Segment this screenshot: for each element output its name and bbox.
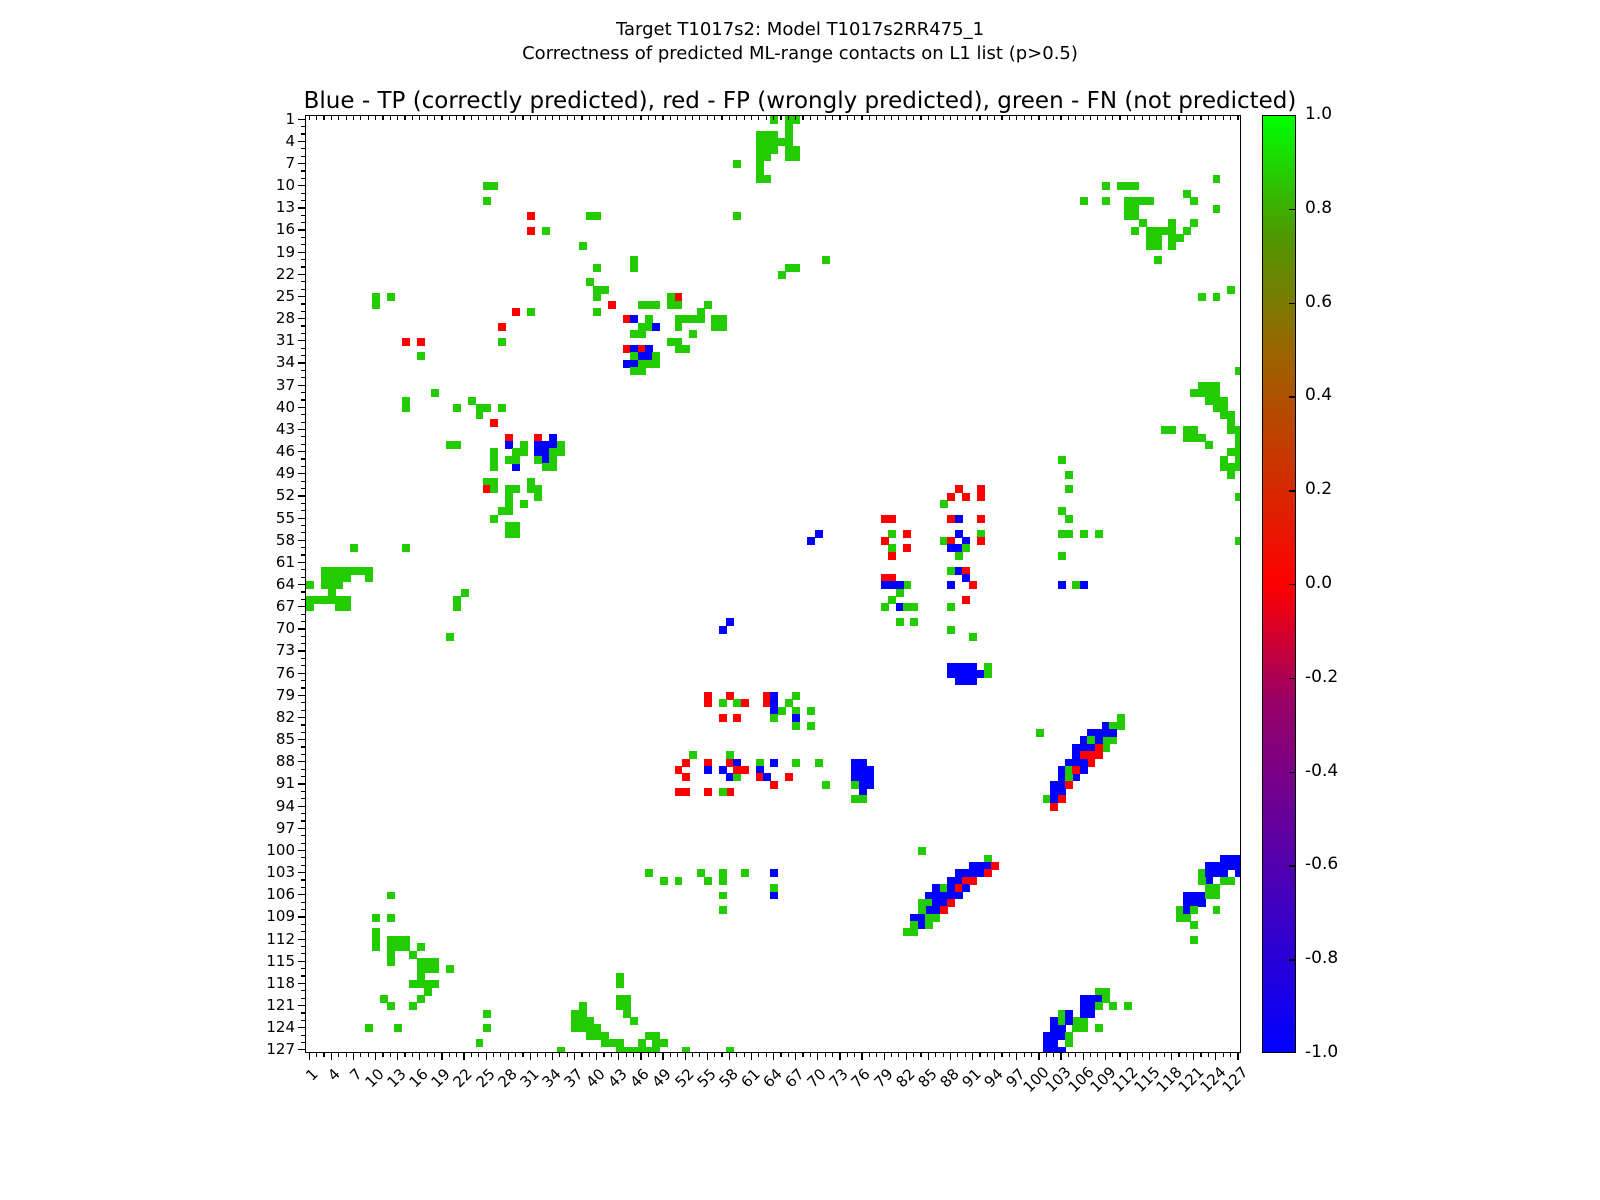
contact-cell-mirror	[719, 877, 727, 885]
contact-cell	[1087, 759, 1095, 767]
contact-cell	[402, 544, 410, 552]
y-major-tick	[298, 695, 305, 696]
contact-cell	[1058, 581, 1066, 589]
y-minor-tick	[301, 835, 305, 836]
x-top-tick	[434, 115, 435, 120]
x-top-tick	[559, 115, 560, 120]
contact-cell	[365, 574, 373, 582]
x-top-tick	[677, 115, 678, 120]
contact-cell	[822, 781, 830, 789]
y-tick-label: 112	[247, 930, 295, 948]
colorbar-tick	[1289, 584, 1296, 585]
x-top-tick	[1009, 115, 1010, 120]
y-minor-tick	[301, 769, 305, 770]
x-top-tick	[618, 115, 619, 120]
x-top-tick	[847, 115, 848, 120]
colorbar-tick-label: 0.2	[1305, 479, 1332, 499]
x-minor-tick	[1024, 1053, 1025, 1057]
contact-cell-mirror	[770, 869, 778, 877]
contact-cell	[417, 995, 425, 1003]
x-minor-tick	[1186, 1053, 1187, 1057]
contact-cell	[453, 441, 461, 449]
x-top-tick	[1178, 115, 1179, 120]
contact-cell-mirror	[697, 315, 705, 323]
y-minor-tick	[301, 680, 305, 681]
contact-cell-mirror	[1168, 242, 1176, 250]
x-top-tick	[692, 115, 693, 120]
contact-cell	[645, 869, 653, 877]
y-minor-tick	[301, 946, 305, 947]
contact-cell-mirror	[903, 603, 911, 611]
y-major-tick	[298, 473, 305, 474]
contact-cell	[1065, 781, 1073, 789]
x-minor-tick	[449, 1053, 450, 1057]
x-top-tick	[1060, 115, 1061, 120]
contact-cell-mirror	[763, 153, 771, 161]
x-major-tick	[994, 1053, 995, 1060]
contact-cell-mirror	[409, 980, 417, 988]
x-minor-tick	[1134, 1053, 1135, 1057]
y-minor-tick	[301, 444, 305, 445]
contact-cell	[719, 906, 727, 914]
x-major-tick	[530, 1053, 531, 1060]
contact-cell	[785, 773, 793, 781]
contact-cell	[822, 256, 830, 264]
y-major-tick	[298, 717, 305, 718]
contact-cell-mirror	[630, 1017, 638, 1025]
x-top-tick	[1142, 115, 1143, 120]
x-major-tick	[508, 1053, 509, 1060]
contact-cell-mirror	[940, 906, 948, 914]
contact-cell-mirror	[1109, 729, 1117, 737]
contact-cell-mirror	[741, 766, 749, 774]
contact-cell	[652, 1047, 660, 1053]
y-major-tick	[298, 274, 305, 275]
y-minor-tick	[301, 156, 305, 157]
contact-cell-mirror	[947, 899, 955, 907]
y-major-tick	[298, 362, 305, 363]
y-tick-label: 109	[247, 907, 295, 925]
y-minor-tick	[301, 1020, 305, 1021]
y-tick-label: 103	[247, 863, 295, 881]
contact-cell-mirror	[490, 419, 498, 427]
x-minor-tick	[316, 1053, 317, 1057]
contact-cell	[1095, 751, 1103, 759]
x-major-tick	[596, 1053, 597, 1060]
x-top-tick	[596, 115, 597, 120]
contact-cell-mirror	[520, 500, 528, 508]
y-major-tick	[298, 451, 305, 452]
y-minor-tick	[301, 215, 305, 216]
y-tick-label: 46	[247, 442, 295, 460]
contact-cell	[910, 603, 918, 611]
contact-cell	[557, 1047, 565, 1053]
x-minor-tick	[633, 1053, 634, 1057]
contact-cell	[1124, 1002, 1132, 1010]
y-minor-tick	[301, 798, 305, 799]
x-minor-tick	[987, 1053, 988, 1057]
y-major-tick	[298, 1027, 305, 1028]
x-minor-tick	[404, 1053, 405, 1057]
colorbar-tick	[1289, 490, 1296, 491]
contact-cell-mirror	[1065, 773, 1073, 781]
y-minor-tick	[301, 355, 305, 356]
x-major-tick	[486, 1053, 487, 1060]
contact-cell-mirror	[1154, 242, 1162, 250]
y-minor-tick	[301, 902, 305, 903]
contact-cell-mirror	[1102, 197, 1110, 205]
x-top-tick	[1024, 115, 1025, 120]
y-tick-label: 34	[247, 353, 295, 371]
contact-cell-mirror	[991, 862, 999, 870]
contact-cell-mirror	[770, 146, 778, 154]
x-major-tick	[574, 1053, 575, 1060]
x-minor-tick	[323, 1053, 324, 1057]
x-top-tick	[626, 115, 627, 120]
y-major-tick	[298, 628, 305, 629]
x-minor-tick	[847, 1053, 848, 1057]
x-top-tick	[699, 115, 700, 120]
x-top-tick	[1097, 115, 1098, 120]
y-minor-tick	[301, 599, 305, 600]
y-tick-label: 79	[247, 686, 295, 704]
contact-cell	[417, 338, 425, 346]
contact-cell-mirror	[675, 323, 683, 331]
contact-cell-mirror	[719, 699, 727, 707]
contact-cell-mirror	[770, 714, 778, 722]
contact-cell-mirror	[593, 293, 601, 301]
contact-cell	[1102, 182, 1110, 190]
x-minor-tick	[876, 1053, 877, 1057]
contact-cell-mirror	[542, 227, 550, 235]
contact-cells-layer	[306, 116, 1240, 1052]
y-minor-tick	[301, 289, 305, 290]
title-line-1: Target T1017s2: Model T1017s2RR475_1	[0, 18, 1600, 42]
y-minor-tick	[301, 687, 305, 688]
contact-cell-mirror	[402, 338, 410, 346]
y-major-tick	[298, 540, 305, 541]
x-top-tick	[397, 115, 398, 120]
colorbar-tick	[1289, 678, 1296, 679]
x-top-tick	[965, 115, 966, 120]
y-minor-tick	[301, 510, 305, 511]
contact-cell	[1065, 1039, 1073, 1047]
contact-cell	[1190, 906, 1198, 914]
x-top-tick	[802, 115, 803, 120]
contact-cell	[675, 877, 683, 885]
contact-cell	[431, 965, 439, 973]
y-minor-tick	[301, 1035, 305, 1036]
x-top-tick	[1164, 115, 1165, 120]
contact-cell-mirror	[770, 884, 778, 892]
x-minor-tick	[802, 1053, 803, 1057]
contact-cell-mirror	[1109, 1002, 1117, 1010]
y-minor-tick	[301, 414, 305, 415]
x-top-tick	[486, 115, 487, 120]
contact-cell	[778, 707, 786, 715]
contact-cell	[903, 530, 911, 538]
x-minor-tick	[1208, 1053, 1209, 1057]
contact-cell	[1072, 773, 1080, 781]
x-major-tick	[1171, 1053, 1172, 1060]
y-tick-label: 7	[247, 154, 295, 172]
x-top-tick	[655, 115, 656, 120]
x-minor-tick	[913, 1053, 914, 1057]
x-minor-tick	[788, 1053, 789, 1057]
x-top-tick	[1156, 115, 1157, 120]
contact-cell	[1205, 441, 1213, 449]
y-minor-tick	[301, 665, 305, 666]
contact-cell-mirror	[1235, 493, 1241, 501]
contact-cell-mirror	[1235, 537, 1241, 545]
x-top-tick	[633, 115, 634, 120]
x-top-tick	[935, 115, 936, 120]
y-minor-tick	[301, 178, 305, 179]
y-major-tick	[298, 407, 305, 408]
x-top-tick	[825, 115, 826, 120]
y-minor-tick	[301, 865, 305, 866]
y-minor-tick	[301, 924, 305, 925]
x-top-tick	[603, 115, 604, 120]
colorbar-tick	[1289, 303, 1296, 304]
y-tick-label: 82	[247, 708, 295, 726]
contact-cell-mirror	[1213, 892, 1221, 900]
x-major-tick	[662, 1053, 663, 1060]
y-tick-label: 88	[247, 752, 295, 770]
x-major-tick	[618, 1053, 619, 1060]
x-minor-tick	[1230, 1053, 1231, 1057]
y-major-tick	[298, 739, 305, 740]
contact-cell	[498, 404, 506, 412]
contact-cell-mirror	[1176, 234, 1184, 242]
contact-cell	[726, 1047, 734, 1053]
x-minor-tick	[567, 1053, 568, 1057]
x-minor-tick	[920, 1053, 921, 1057]
contact-cell-mirror	[461, 589, 469, 597]
contact-cell	[969, 581, 977, 589]
contact-cell-mirror	[881, 537, 889, 545]
contact-cell-mirror	[770, 759, 778, 767]
contact-cell	[859, 795, 867, 803]
contact-cell	[1058, 552, 1066, 560]
x-major-tick	[1149, 1053, 1150, 1060]
x-top-tick	[994, 115, 995, 120]
contact-cell	[955, 515, 963, 523]
x-top-tick	[928, 115, 929, 120]
x-top-tick	[1112, 115, 1113, 120]
x-top-tick	[773, 115, 774, 120]
contact-cell	[682, 788, 690, 796]
contact-map-plot-area[interactable]	[305, 115, 1241, 1053]
contact-cell	[682, 759, 690, 767]
contact-cell	[704, 877, 712, 885]
y-major-tick	[298, 163, 305, 164]
contact-cell-mirror	[704, 301, 712, 309]
x-minor-tick	[346, 1053, 347, 1057]
x-top-tick	[721, 115, 722, 120]
y-tick-label: 22	[247, 265, 295, 283]
y-minor-tick	[301, 348, 305, 349]
contact-cell-mirror	[512, 485, 520, 493]
x-top-tick	[360, 115, 361, 120]
contact-cell-mirror	[1095, 744, 1103, 752]
x-top-tick	[419, 115, 420, 120]
contact-cell	[1227, 471, 1235, 479]
y-tick-label: 58	[247, 531, 295, 549]
y-major-tick	[298, 939, 305, 940]
x-minor-tick	[493, 1053, 494, 1057]
contact-cell	[792, 692, 800, 700]
x-major-tick	[419, 1053, 420, 1060]
y-tick-label: 1	[247, 110, 295, 128]
y-minor-tick	[301, 377, 305, 378]
contact-cell-mirror	[969, 877, 977, 885]
contact-cell-mirror	[792, 116, 800, 124]
x-top-tick	[1186, 115, 1187, 120]
x-top-tick	[471, 115, 472, 120]
x-minor-tick	[626, 1053, 627, 1057]
y-tick-label: 124	[247, 1018, 295, 1036]
x-top-tick	[552, 115, 553, 120]
x-top-tick	[611, 115, 612, 120]
x-minor-tick	[1112, 1053, 1113, 1057]
contact-cell	[387, 293, 395, 301]
y-tick-label: 64	[247, 575, 295, 593]
contact-cell-mirror	[1213, 175, 1221, 183]
x-top-tick	[522, 115, 523, 120]
contact-cell-mirror	[881, 581, 889, 589]
contact-cell-mirror	[1146, 197, 1154, 205]
x-minor-tick	[854, 1053, 855, 1057]
y-tick-label: 121	[247, 996, 295, 1014]
contact-cell-mirror	[704, 788, 712, 796]
contact-cell-mirror	[534, 456, 542, 464]
contact-cell-mirror	[453, 603, 461, 611]
x-top-tick	[861, 115, 862, 120]
contact-cell	[1102, 744, 1110, 752]
y-minor-tick	[301, 975, 305, 976]
contact-cell-mirror	[859, 773, 867, 781]
x-minor-tick	[1200, 1053, 1201, 1057]
contact-cell-mirror	[1087, 1010, 1095, 1018]
contact-cell	[431, 980, 439, 988]
y-tick-label: 10	[247, 176, 295, 194]
contact-cell	[770, 892, 778, 900]
x-top-tick	[884, 115, 885, 120]
x-top-tick	[353, 115, 354, 120]
title-line-2: Correctness of predicted ML-range contac…	[0, 42, 1600, 66]
contact-cell-mirror	[1154, 227, 1162, 235]
contact-cell-mirror	[1095, 1002, 1103, 1010]
x-minor-tick	[478, 1053, 479, 1057]
x-minor-tick	[935, 1053, 936, 1057]
contact-cell-mirror	[792, 722, 800, 730]
colorbar-tick	[1289, 865, 1296, 866]
y-tick-label: 100	[247, 841, 295, 859]
x-top-tick	[1237, 115, 1238, 120]
contact-cell	[453, 404, 461, 412]
colorbar-tick-label: -0.8	[1305, 948, 1338, 968]
y-major-tick	[298, 783, 305, 784]
x-top-tick	[441, 115, 442, 120]
x-minor-tick	[744, 1053, 745, 1057]
contact-cell-mirror	[571, 1024, 579, 1032]
x-major-tick	[906, 1053, 907, 1060]
x-minor-tick	[758, 1053, 759, 1057]
contact-cell-mirror	[785, 123, 793, 131]
contact-cell-mirror	[763, 131, 771, 139]
x-minor-tick	[390, 1053, 391, 1057]
contact-cell	[483, 1010, 491, 1018]
contact-cell-mirror	[512, 456, 520, 464]
y-minor-tick	[301, 857, 305, 858]
x-minor-tick	[943, 1053, 944, 1057]
colorbar-tick-label: 0.6	[1305, 292, 1332, 312]
x-minor-tick	[1075, 1053, 1076, 1057]
y-minor-tick	[301, 843, 305, 844]
x-minor-tick	[766, 1053, 767, 1057]
contact-cell-mirror	[1131, 227, 1139, 235]
y-minor-tick	[301, 591, 305, 592]
x-major-tick	[928, 1053, 929, 1060]
contact-cell	[343, 603, 351, 611]
contact-cell-mirror	[969, 633, 977, 641]
y-minor-tick	[301, 732, 305, 733]
contact-cell-mirror	[557, 448, 565, 456]
x-top-tick	[1200, 115, 1201, 120]
x-minor-tick	[670, 1053, 671, 1057]
contact-cell-mirror	[925, 921, 933, 929]
x-top-tick	[508, 115, 509, 120]
y-tick-label: 4	[247, 132, 295, 150]
contact-cell-mirror	[1036, 729, 1044, 737]
x-major-tick	[463, 1053, 464, 1060]
contact-cell	[1190, 921, 1198, 929]
contact-cell-mirror	[1190, 936, 1198, 944]
contact-cell	[896, 618, 904, 626]
contact-cell	[365, 1024, 373, 1032]
x-minor-tick	[1223, 1053, 1224, 1057]
contact-cell-mirror	[387, 1002, 395, 1010]
y-minor-tick	[301, 887, 305, 888]
contact-cell-mirror	[881, 515, 889, 523]
contact-cell-mirror	[1080, 759, 1088, 767]
contact-cell	[792, 264, 800, 272]
y-tick-label: 16	[247, 220, 295, 238]
colorbar-tick-label: -0.4	[1305, 761, 1338, 781]
x-major-tick	[707, 1053, 708, 1060]
contact-cell-mirror	[1080, 581, 1088, 589]
y-major-tick	[298, 872, 305, 873]
contact-cell	[527, 308, 535, 316]
contact-cell-mirror	[402, 404, 410, 412]
contact-cell-mirror	[962, 544, 970, 552]
contact-cell	[1080, 1024, 1088, 1032]
x-top-tick	[323, 115, 324, 120]
contact-cell-mirror	[807, 707, 815, 715]
x-minor-tick	[677, 1053, 678, 1057]
contact-cell-mirror	[630, 264, 638, 272]
y-minor-tick	[301, 481, 305, 482]
contact-cell-mirror	[409, 951, 417, 959]
contact-cell	[512, 463, 520, 471]
y-minor-tick	[301, 126, 305, 127]
y-minor-tick	[301, 879, 305, 880]
contact-cell	[483, 404, 491, 412]
x-minor-tick	[338, 1053, 339, 1057]
contact-cell-mirror	[1154, 256, 1162, 264]
y-major-tick	[298, 650, 305, 651]
